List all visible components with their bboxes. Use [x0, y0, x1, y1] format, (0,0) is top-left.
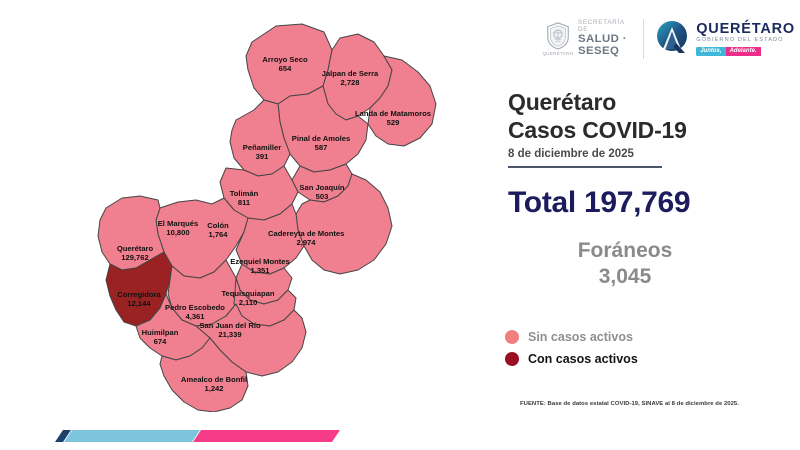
queretaro-state-logo: QUERÉTARO GOBIERNO DEL ESTADO Juntos, Ad…	[654, 19, 795, 60]
legend-dot-pink-icon	[505, 330, 519, 344]
total-cases: Total 197,769	[508, 186, 690, 220]
title-underline	[508, 166, 662, 168]
logo-divider	[643, 19, 644, 59]
queretaro-logo-subtitle: GOBIERNO DEL ESTADO	[696, 38, 795, 44]
report-date: 8 de diciembre de 2025	[508, 148, 634, 160]
source-note: FUENTE: Base de datos estatal COVID-19, …	[520, 401, 739, 407]
bottom-color-ribbon	[55, 428, 340, 444]
coat-of-arms-icon: QUERÉTARO	[545, 22, 571, 56]
title-line-1: Querétaro	[508, 88, 687, 116]
page-title: Querétaro Casos COVID-19	[508, 88, 687, 144]
title-line-2: Casos COVID-19	[508, 116, 687, 144]
legend-label-sin-casos: Sin casos activos	[528, 330, 633, 344]
queretaro-logo-name: QUERÉTARO	[696, 22, 795, 37]
seseq-line-small: SECRETARÍA DE	[578, 20, 633, 33]
infographic-canvas: QUERÉTARO SECRETARÍA DE SALUD · SESEQ	[0, 0, 800, 450]
map-legend: Sin casos activos Con casos activos	[505, 326, 638, 370]
foraneos-block: Foráneos 3,045	[530, 238, 720, 289]
header-logos: QUERÉTARO SECRETARÍA DE SALUD · SESEQ	[545, 10, 795, 68]
seseq-wordmark: SECRETARÍA DE SALUD · SESEQ	[578, 20, 633, 57]
legend-dot-darkred-icon	[505, 352, 519, 366]
queretaro-wordmark: QUERÉTARO GOBIERNO DEL ESTADO Juntos, Ad…	[696, 22, 795, 56]
legend-label-con-casos: Con casos activos	[528, 352, 638, 366]
foraneos-label: Foráneos	[530, 238, 720, 264]
legend-item-con-casos: Con casos activos	[505, 348, 638, 370]
legend-item-sin-casos: Sin casos activos	[505, 326, 638, 348]
tagline-adelante: Adelante.	[726, 47, 761, 56]
seseq-logo: QUERÉTARO SECRETARÍA DE SALUD · SESEQ	[545, 20, 633, 57]
queretaro-q-mark-icon	[654, 19, 690, 60]
seal-caption: QUERÉTARO	[542, 52, 574, 57]
queretaro-tagline: Juntos, Adelante.	[696, 47, 795, 56]
foraneos-value: 3,045	[530, 264, 720, 290]
tagline-juntos: Juntos,	[696, 47, 725, 56]
seseq-line-big: SALUD · SESEQ	[578, 34, 633, 58]
queretaro-choropleth-map: Arroyo Seco654 Jalpan de Serra2,728 Land…	[40, 12, 460, 412]
map-svg	[40, 12, 460, 412]
